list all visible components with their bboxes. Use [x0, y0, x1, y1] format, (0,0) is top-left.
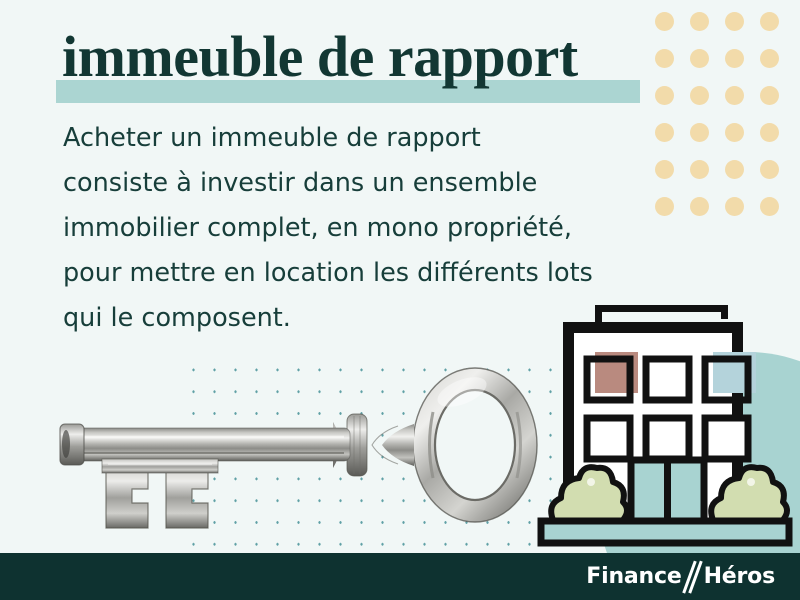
dot	[725, 197, 744, 216]
dot	[725, 86, 744, 105]
building-roof-parapet	[595, 305, 728, 323]
dot	[690, 123, 709, 142]
dot	[760, 86, 779, 105]
dot	[725, 160, 744, 179]
logo-text-heros: Héros	[704, 564, 775, 589]
key-shaft	[68, 428, 350, 461]
description-text: Acheter un immeuble de rapport consiste …	[63, 116, 593, 341]
page-title: immeuble de rapport	[62, 28, 578, 86]
building-window-row-top	[587, 352, 756, 400]
building-entrance-doors	[631, 460, 704, 522]
dot	[725, 123, 744, 142]
dot	[690, 86, 709, 105]
dot	[760, 12, 779, 31]
key-barrel-tip	[60, 424, 84, 465]
dot	[655, 49, 674, 68]
dot	[690, 197, 709, 216]
building-window-row-bottom	[587, 418, 748, 459]
dot	[655, 123, 674, 142]
dot	[690, 49, 709, 68]
double-slash-icon	[683, 562, 703, 592]
key-bow	[413, 368, 537, 522]
page-title-wrapper: immeuble de rapport	[62, 28, 578, 86]
dot	[655, 12, 674, 31]
footer-bar: Finance Héros	[0, 553, 800, 600]
orange-dot-grid-decoration	[655, 12, 795, 234]
dot	[690, 160, 709, 179]
dot	[760, 160, 779, 179]
key-neck	[382, 424, 414, 466]
dot	[690, 12, 709, 31]
dot	[725, 49, 744, 68]
dot	[760, 49, 779, 68]
logo-text-finance: Finance	[586, 564, 681, 589]
door-divider	[664, 460, 671, 522]
dot	[655, 86, 674, 105]
skeleton-key-illustration	[58, 352, 578, 552]
key-bit	[86, 459, 218, 528]
dot	[725, 12, 744, 31]
dot	[655, 160, 674, 179]
building-base-platform	[541, 521, 789, 543]
infographic-card: immeuble de rapport Acheter un immeuble …	[0, 0, 800, 600]
dot	[655, 197, 674, 216]
dot	[760, 197, 779, 216]
dot	[760, 123, 779, 142]
brand-logo[interactable]: Finance Héros	[586, 562, 775, 592]
